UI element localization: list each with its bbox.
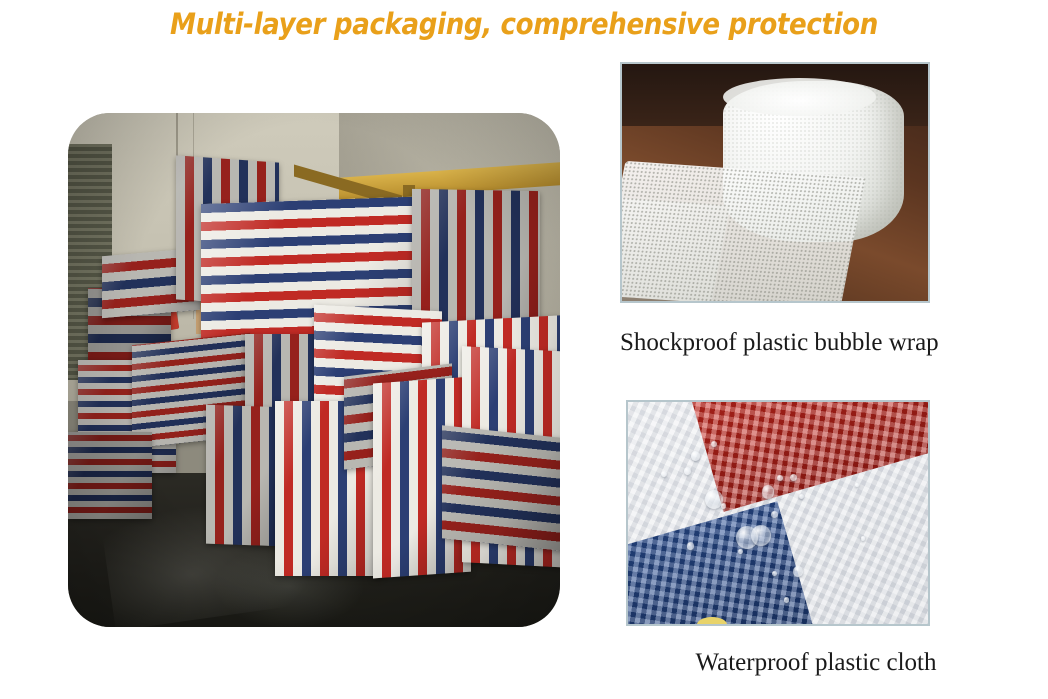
water-droplet — [751, 525, 771, 546]
water-droplet — [661, 471, 667, 477]
water-droplet — [687, 542, 695, 550]
wrapped-bundle — [206, 405, 285, 547]
bubble-texture-tail — [620, 161, 865, 303]
water-droplet — [738, 549, 743, 555]
water-droplet — [793, 566, 803, 577]
water-droplet — [711, 441, 717, 447]
water-droplet — [762, 485, 775, 498]
water-droplet — [705, 490, 723, 509]
wrapped-bundle — [442, 425, 560, 552]
bubble-wrap-photo — [620, 62, 930, 303]
water-droplet — [790, 474, 797, 481]
yellow-edge-detail — [697, 617, 727, 626]
roll-top-face — [723, 78, 876, 116]
water-droplet — [772, 571, 777, 576]
page-title: Multi-layer packaging, comprehensive pro… — [52, 6, 995, 42]
water-droplet — [784, 597, 789, 602]
water-droplet — [691, 451, 700, 461]
bubble-wrap-tail — [620, 161, 865, 303]
wrapped-bundle — [68, 432, 152, 519]
caption-waterproof-plastic-cloth: Waterproof plastic cloth — [626, 648, 1006, 678]
caption-shockproof-bubble-wrap: Shockproof plastic bubble wrap — [620, 328, 1000, 358]
waterproof-cloth-photo — [626, 400, 930, 626]
water-droplet — [777, 475, 783, 481]
water-droplet — [771, 511, 778, 519]
striped-packages-photo — [68, 113, 560, 627]
